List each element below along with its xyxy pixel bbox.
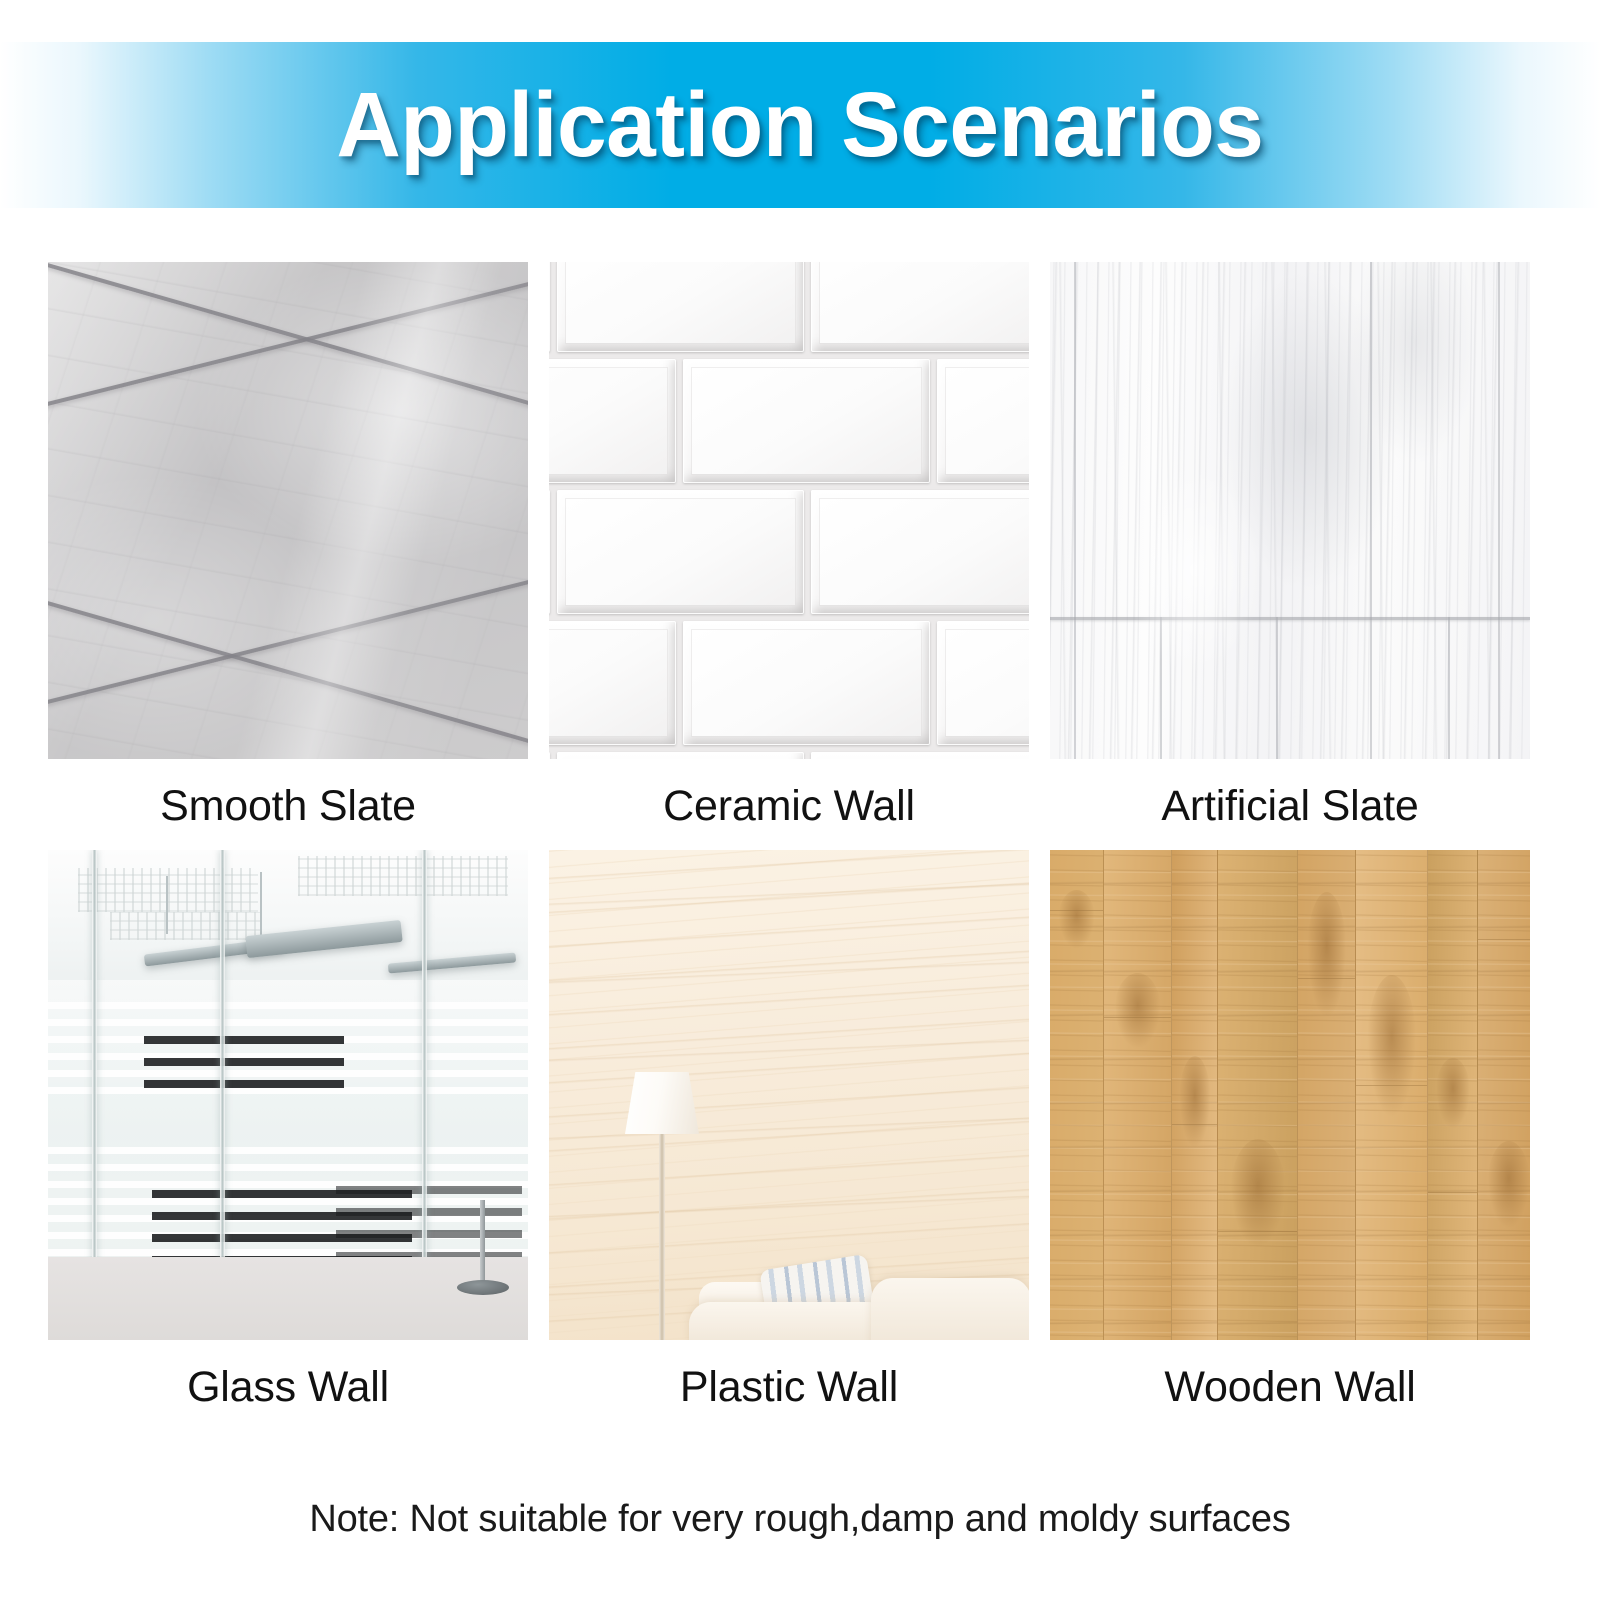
scenario-image-artificial-slate	[1050, 262, 1530, 759]
footer-note: Note: Not suitable for very rough,damp a…	[0, 1498, 1600, 1541]
scenario-image-plastic-wall	[549, 850, 1029, 1340]
scenario-label-plastic-wall: Plastic Wall	[549, 1340, 1029, 1409]
scenario-card-artificial-slate: Artificial Slate	[1050, 262, 1530, 828]
scenario-card-glass-wall: Glass Wall	[48, 850, 528, 1409]
scenario-label-artificial-slate: Artificial Slate	[1050, 759, 1530, 828]
scenario-card-plastic-wall: Plastic Wall	[549, 850, 1029, 1409]
scenario-grid: Smooth Slate Ceramic Wall Artificial Sla…	[48, 262, 1530, 1409]
texture-ceramic-wall	[549, 262, 1029, 759]
page-title: Application Scenarios	[336, 79, 1263, 171]
scenario-label-glass-wall: Glass Wall	[48, 1340, 528, 1409]
scenario-card-ceramic-wall: Ceramic Wall	[549, 262, 1029, 828]
texture-smooth-slate	[48, 262, 528, 759]
scenario-image-smooth-slate	[48, 262, 528, 759]
texture-wooden-wall	[1050, 850, 1530, 1340]
scenario-label-wooden-wall: Wooden Wall	[1050, 1340, 1530, 1409]
scenario-card-wooden-wall: Wooden Wall	[1050, 850, 1530, 1409]
texture-glass-wall	[48, 850, 528, 1340]
scenario-card-smooth-slate: Smooth Slate	[48, 262, 528, 828]
scenario-image-glass-wall	[48, 850, 528, 1340]
scenario-label-ceramic-wall: Ceramic Wall	[549, 759, 1029, 828]
texture-plastic-wall	[549, 850, 1029, 1340]
scenario-image-wooden-wall	[1050, 850, 1530, 1340]
texture-artificial-slate	[1050, 262, 1530, 759]
scenario-label-smooth-slate: Smooth Slate	[48, 759, 528, 828]
header-banner: Application Scenarios	[0, 42, 1600, 208]
scenario-image-ceramic-wall	[549, 262, 1029, 759]
